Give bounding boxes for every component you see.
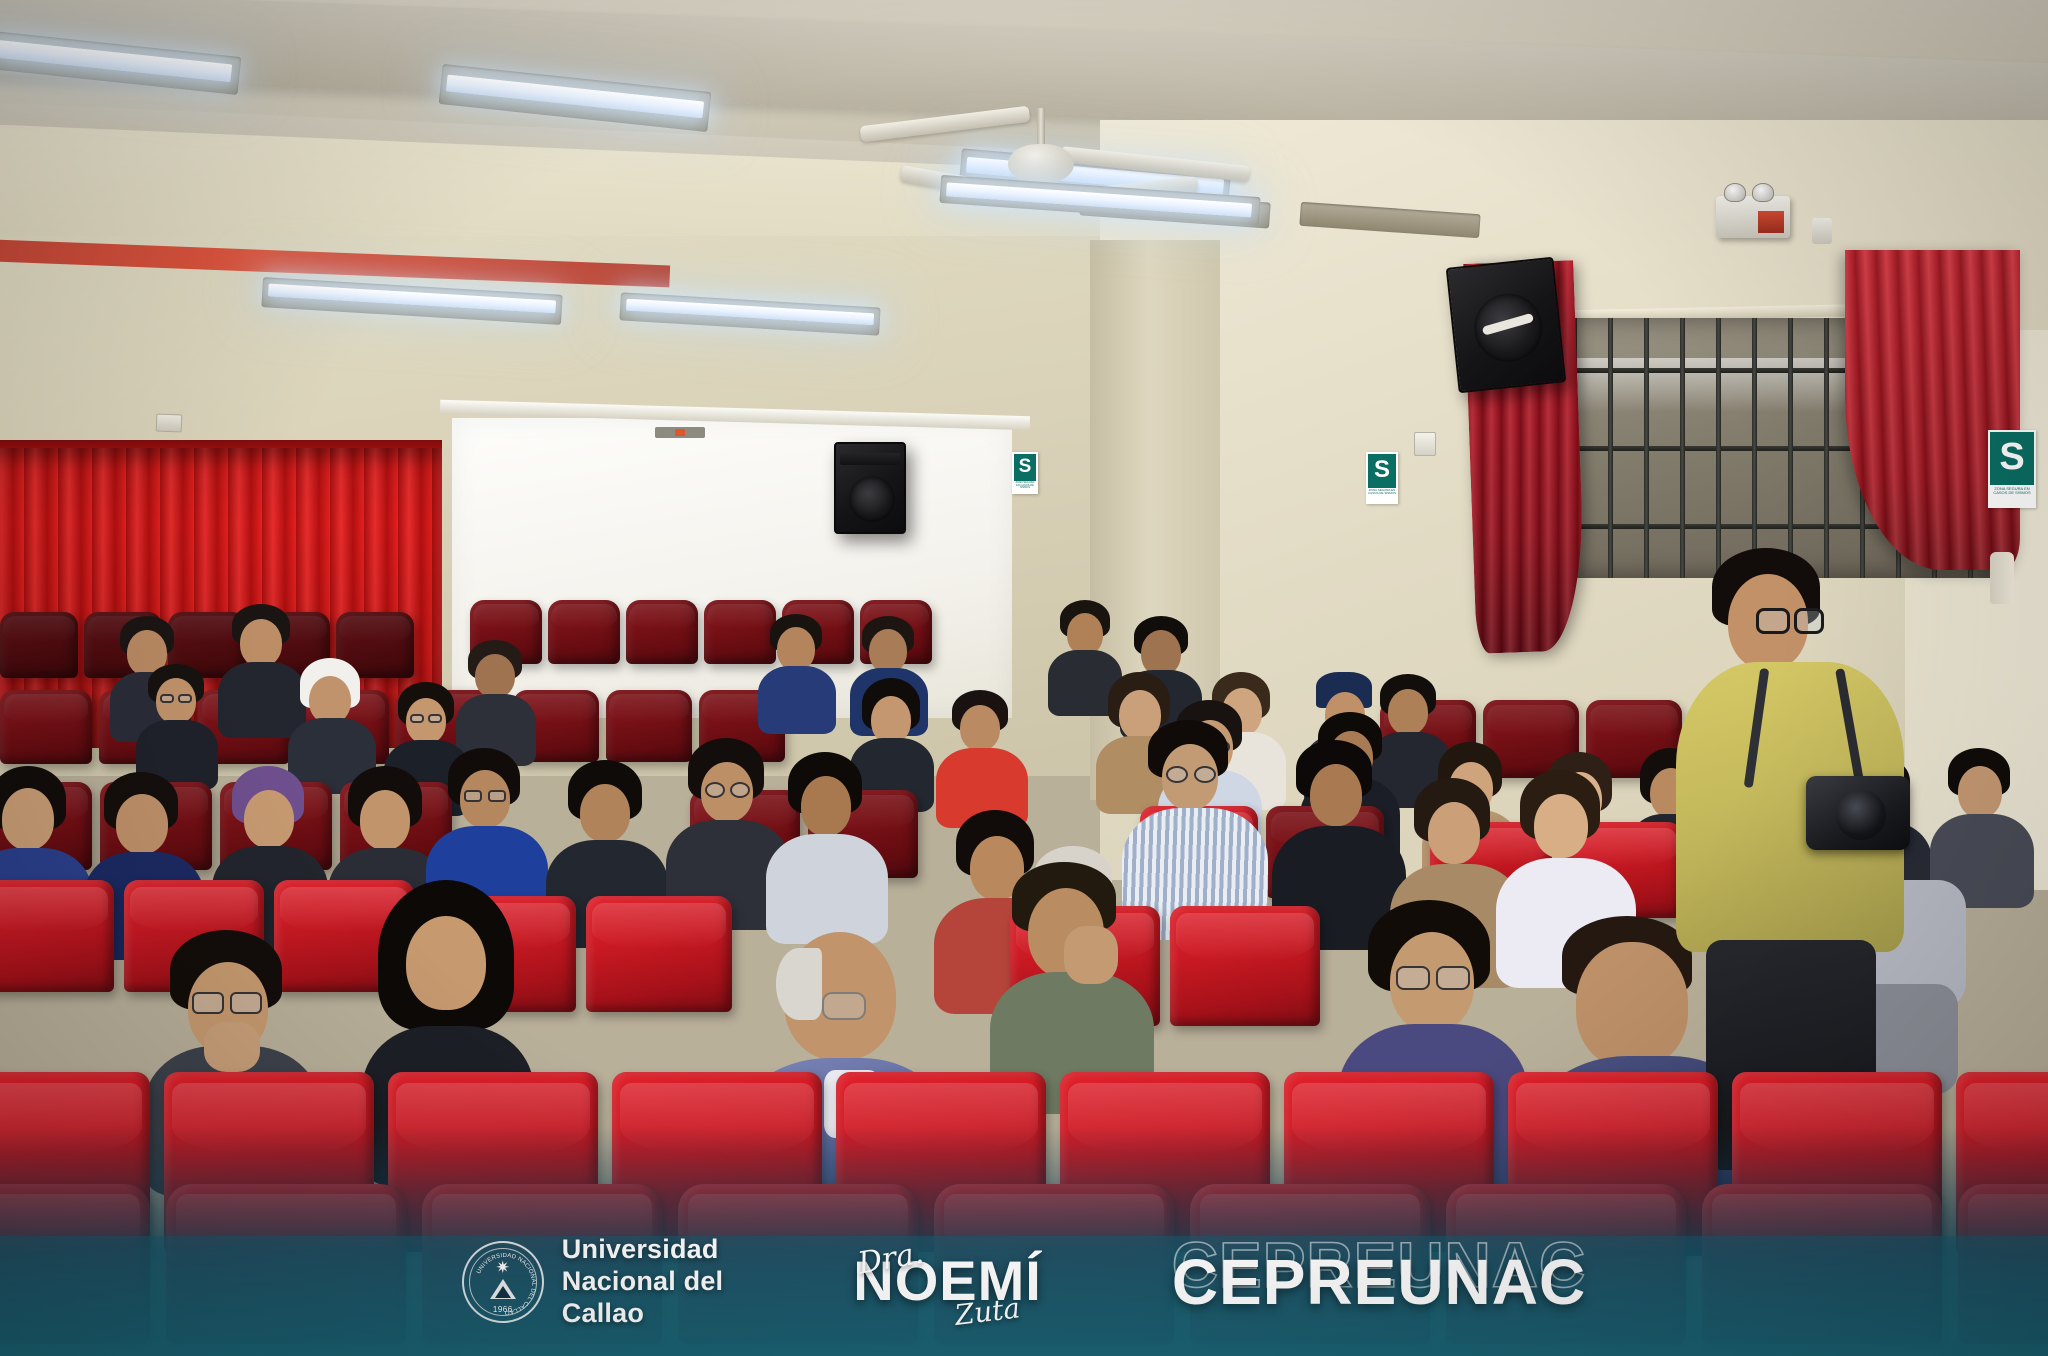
cepreunac-wordmark: CEPREUNAC CEPREUNAC	[1172, 1245, 1586, 1319]
ceiling-fan-rod	[1037, 108, 1045, 148]
safe-zone-sign-mid: S ZONA SEGURA EN CASOS DE SISMOS	[1366, 452, 1398, 504]
wall-socket	[655, 427, 705, 438]
emergency-light	[1716, 196, 1790, 238]
wall-plug-right	[1414, 432, 1436, 456]
projection-whiteboard	[452, 418, 1012, 718]
university-line-1: Universidad	[562, 1234, 723, 1266]
wall-speaker-large	[1446, 257, 1567, 394]
unac-seal-icon: UNIVERSIDAD NACIONAL DEL CALLAO ✷ 1966	[462, 1241, 544, 1323]
seal-year: 1966	[493, 1305, 513, 1314]
brand-bar: UNIVERSIDAD NACIONAL DEL CALLAO ✷ 1966 U…	[0, 1222, 2048, 1342]
fire-extinguisher	[1990, 552, 2014, 604]
wall-speaker-center	[834, 442, 906, 534]
cepreunac-solid-text: CEPREUNAC	[1172, 1245, 1586, 1319]
university-name: Universidad Nacional del Callao	[562, 1234, 723, 1330]
photo-canvas: S ZONA SEGURA EN CASOS DE SISMOS S ZONA …	[0, 0, 2048, 1356]
ceiling-fan-hub	[1008, 144, 1074, 184]
smoke-detector	[1812, 218, 1832, 244]
seal-star-icon: ✷	[496, 1259, 510, 1276]
safe-zone-sign-right: S ZONA SEGURA EN CASOS DE SISMOS	[1988, 430, 2036, 508]
speaker-name-lockup: Dra. NOEMÍ Zuta	[853, 1234, 1042, 1331]
wall-plug-left	[156, 414, 183, 433]
university-line-2: Nacional del	[562, 1266, 723, 1298]
unac-lockup: UNIVERSIDAD NACIONAL DEL CALLAO ✷ 1966 U…	[462, 1234, 723, 1330]
university-line-3: Callao	[562, 1298, 723, 1330]
speaker-surname: Zuta	[953, 1294, 1021, 1330]
safe-zone-sign-center: S ZONA SEGURA EN CASOS DE SISMOS	[1012, 452, 1038, 494]
seal-emblem-icon	[490, 1279, 516, 1299]
